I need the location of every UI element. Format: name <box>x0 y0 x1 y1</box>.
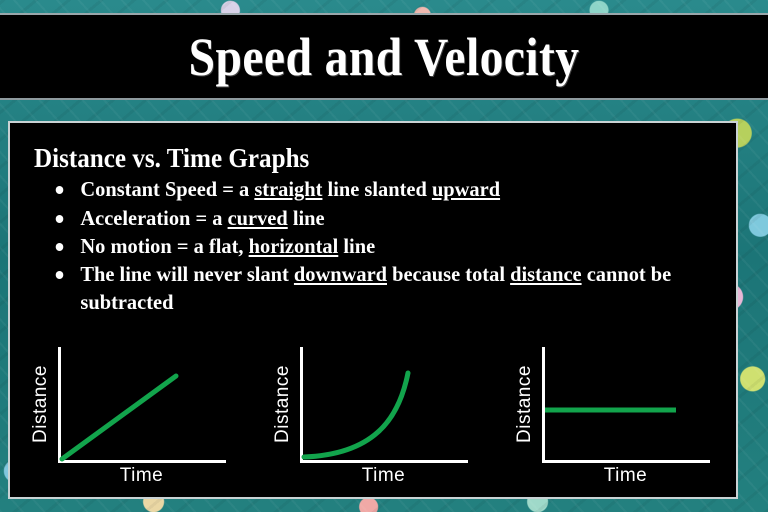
emphasized-term: horizontal <box>249 234 339 258</box>
section-heading: Distance vs. Time Graphs <box>34 144 687 172</box>
list-item: Constant Speed = a straight line slanted… <box>50 176 685 203</box>
page-title: Speed and Velocity <box>189 30 580 84</box>
emphasized-term: upward <box>432 177 500 201</box>
series-line-curve <box>300 347 468 463</box>
y-axis-label: Distance <box>512 345 538 463</box>
text-run: Acceleration = a <box>80 206 227 230</box>
list-item: No motion = a flat, horizontal line <box>50 233 685 260</box>
acceleration-graph: Distance Time <box>266 345 481 495</box>
constant-speed-graph: Distance Time <box>24 345 239 495</box>
series-line-straight <box>58 347 226 463</box>
bullet-list: Constant Speed = a straight line slanted… <box>10 176 736 315</box>
bullet-text-2: No motion = a flat, horizontal line <box>80 234 375 258</box>
graph-row: Distance Time Distance <box>10 345 736 495</box>
y-axis-label: Distance <box>28 345 54 463</box>
emphasized-term: curved <box>228 206 288 230</box>
text-run: line slanted <box>322 177 432 201</box>
list-item: The line will never slant downward becau… <box>50 261 685 316</box>
text-run: Constant Speed = a <box>80 177 254 201</box>
slide-root: Speed and Velocity Distance vs. Time Gra… <box>0 0 768 512</box>
x-axis-label: Time <box>542 465 710 487</box>
emphasized-term: downward <box>294 262 387 286</box>
plot-area <box>542 347 710 463</box>
text-run: No motion = a flat, <box>80 234 248 258</box>
emphasized-term: distance <box>510 262 581 286</box>
bullet-text-1: Acceleration = a curved line <box>80 206 324 230</box>
text-run: line <box>338 234 375 258</box>
text-run: line <box>288 206 325 230</box>
emphasized-term: straight <box>254 177 322 201</box>
bullet-text-0: Constant Speed = a straight line slanted… <box>80 177 500 201</box>
text-run: The line will never slant <box>80 262 294 286</box>
plot-area <box>58 347 226 463</box>
x-axis-label: Time <box>300 465 468 487</box>
y-axis-label: Distance <box>270 345 296 463</box>
no-motion-graph: Distance Time <box>508 345 723 495</box>
bullet-text-3: The line will never slant downward becau… <box>80 262 671 313</box>
list-item: Acceleration = a curved line <box>50 205 685 232</box>
x-axis-label: Time <box>58 465 226 487</box>
content-panel: Distance vs. Time Graphs Constant Speed … <box>8 121 738 499</box>
series-line-flat <box>542 347 710 463</box>
slide-title-bar: Speed and Velocity <box>0 13 768 100</box>
plot-area <box>300 347 468 463</box>
text-run: because total <box>387 262 510 286</box>
